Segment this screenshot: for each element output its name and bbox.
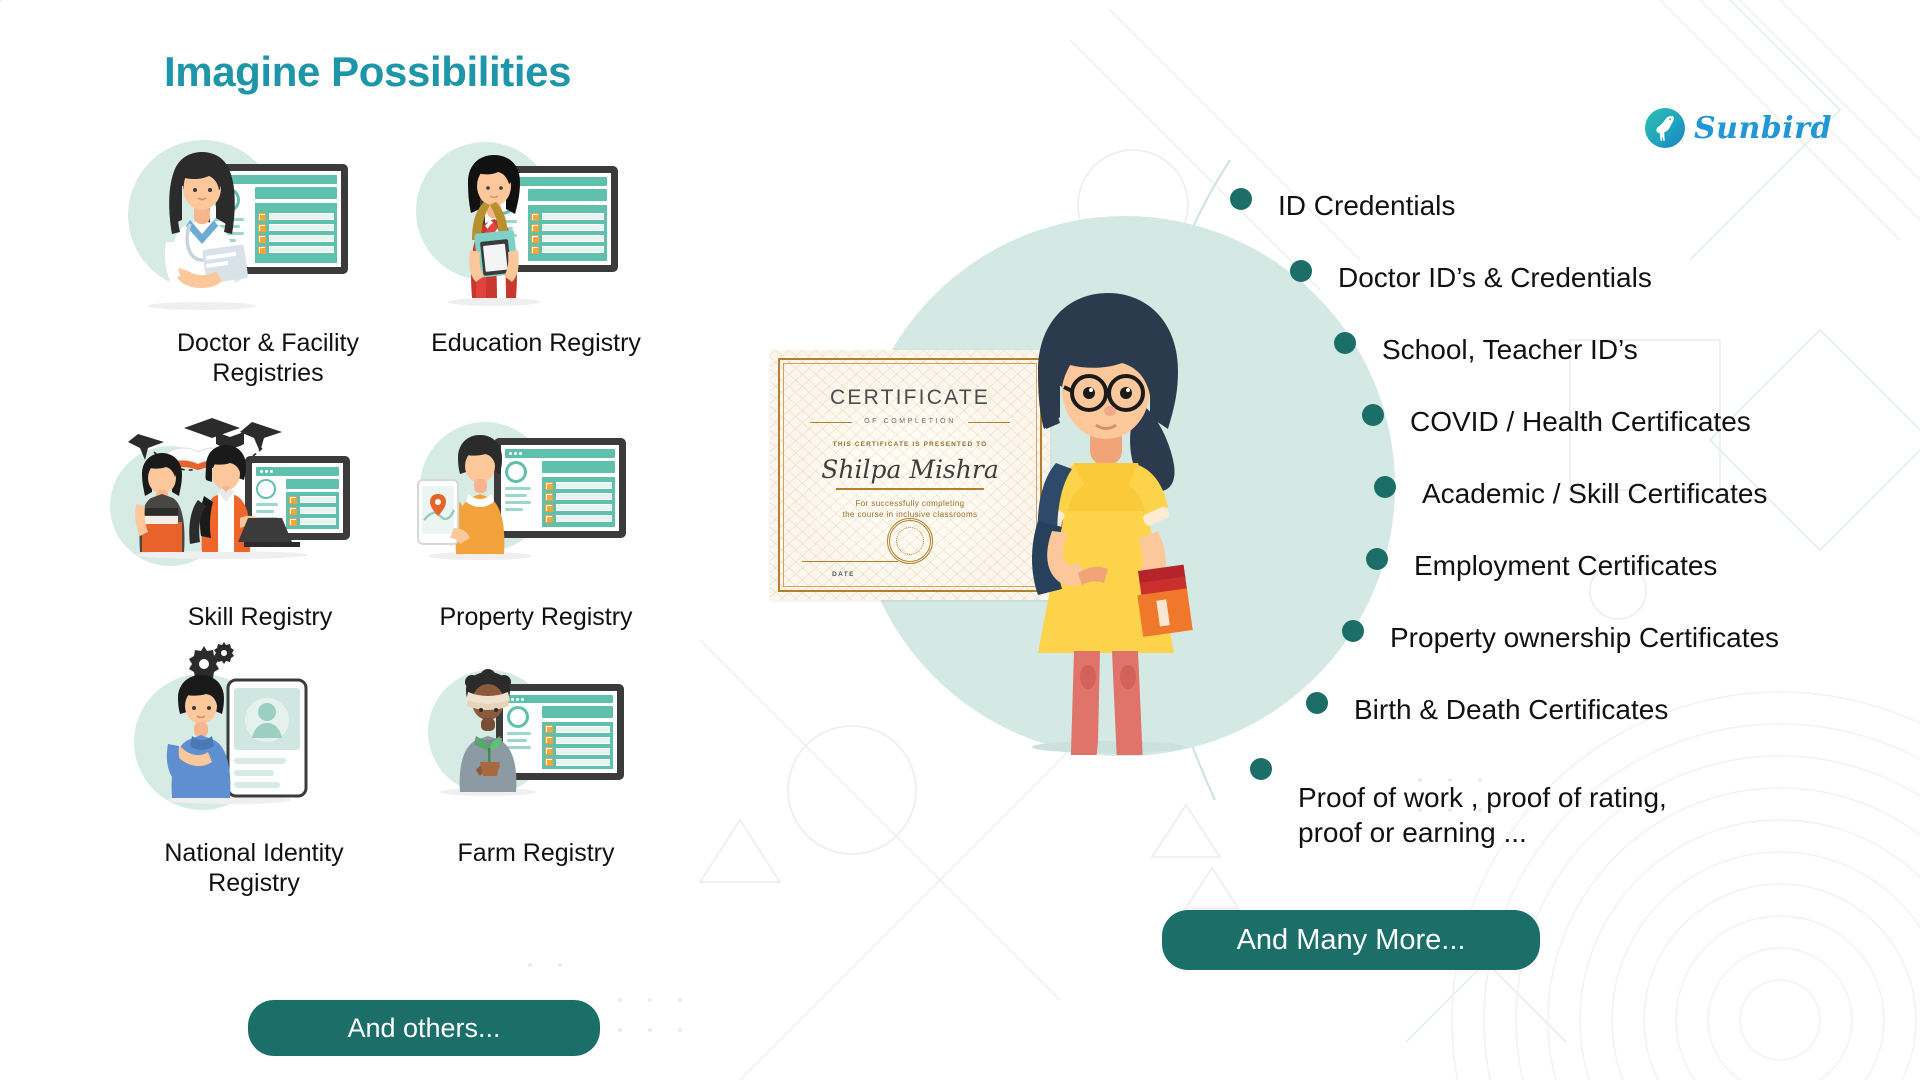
credential-item: Academic / Skill Certificates [1374,476,1767,511]
bullet-dot-icon [1362,404,1384,426]
registry-card-doctor[interactable]: Doctor & Facility Registries [118,140,418,388]
certificate-seal-icon [887,518,933,564]
registry-card-label: Education Registry [386,328,686,358]
teacher-illustration [386,140,686,320]
credential-label: Doctor ID’s & Credentials [1338,260,1652,295]
registry-card-education[interactable]: Education Registry [386,140,686,358]
certificate-date-line [802,561,898,562]
and-others-button[interactable]: And others... [248,1000,600,1056]
credential-item: Employment Certificates [1366,548,1717,583]
bullet-dot-icon [1342,620,1364,642]
doctor-illustration [118,140,418,320]
credential-item: Proof of work , proof of rating, proof o… [1250,758,1667,850]
identity-illustration [104,640,404,820]
registry-card-label: National Identity Registry [104,838,404,898]
bullet-dot-icon [1230,188,1252,210]
credential-label: Academic / Skill Certificates [1422,476,1767,511]
bullet-dot-icon [1306,692,1328,714]
registry-card-identity[interactable]: National Identity Registry [104,640,404,898]
credential-label: ID Credentials [1278,188,1455,223]
credential-label: COVID / Health Certificates [1410,404,1751,439]
page-title: Imagine Possibilities [164,48,571,96]
credential-label: Proof of work , proof of rating, proof o… [1298,780,1667,850]
students-illustration [110,400,410,580]
credential-label: Property ownership Certificates [1390,620,1779,655]
registry-card-label: Skill Registry [110,602,410,632]
bird-icon [1645,108,1685,148]
property-illustration [386,400,686,580]
registry-card-label: Doctor & Facility Registries [118,328,418,388]
registry-card-farm[interactable]: Farm Registry [386,640,686,868]
farmer-illustration [386,640,686,820]
credential-label: Employment Certificates [1414,548,1717,583]
credential-item: Property ownership Certificates [1342,620,1779,655]
credential-item: Birth & Death Certificates [1306,692,1668,727]
certificate-subheading: OF COMPLETION [854,418,966,425]
student-illustration [990,285,1220,755]
bullet-dot-icon [1250,758,1272,780]
bullet-dot-icon [1366,548,1388,570]
certificate-date-label: DATE [832,571,855,578]
bullet-dot-icon [1374,476,1396,498]
registry-card-property[interactable]: Property Registry [386,400,686,632]
and-many-more-button[interactable]: And Many More... [1162,910,1540,970]
credential-label: School, Teacher ID’s [1382,332,1638,367]
registry-card-label: Property Registry [386,602,686,632]
credential-item: Doctor ID’s & Credentials [1290,260,1652,295]
credential-item: School, Teacher ID’s [1334,332,1638,367]
brand-name: Sunbird [1694,111,1832,146]
credential-item: COVID / Health Certificates [1362,404,1751,439]
registry-card-skill[interactable]: Skill Registry [110,400,410,632]
bullet-dot-icon [1290,260,1312,282]
bullet-dot-icon [1334,332,1356,354]
brand-logo: Sunbird [1645,108,1832,148]
credential-item: ID Credentials [1230,188,1455,223]
credential-label: Birth & Death Certificates [1354,692,1668,727]
registry-card-label: Farm Registry [386,838,686,868]
